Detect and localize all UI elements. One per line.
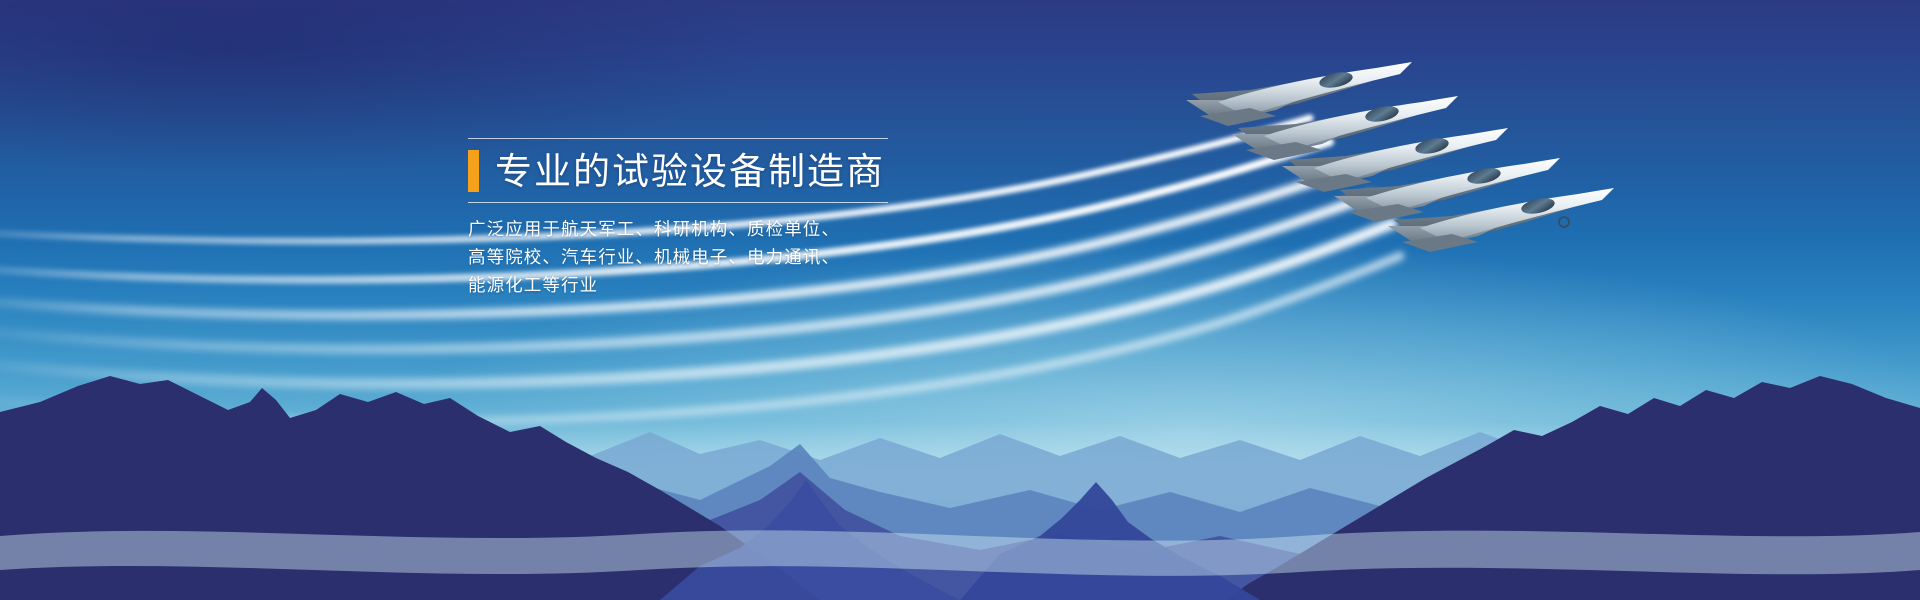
accent-bar-icon xyxy=(468,150,479,192)
page-title: 专业的试验设备制造商 xyxy=(495,153,885,190)
subtitle-line: 广泛应用于航天军工、科研机构、质检单位、 xyxy=(468,216,938,244)
mountain-range-group xyxy=(0,340,1920,600)
mist-layer-lower xyxy=(0,530,1920,575)
jet-formation xyxy=(1100,30,1920,290)
subtitle-line: 能源化工等行业 xyxy=(468,272,938,300)
hero-copy-block: 专业的试验设备制造商 广泛应用于航天军工、科研机构、质检单位、 高等院校、汽车行… xyxy=(468,138,938,300)
subtitle-line: 高等院校、汽车行业、机械电子、电力通讯、 xyxy=(468,244,938,272)
headline-row: 专业的试验设备制造商 xyxy=(468,139,938,202)
subtitle-block: 广泛应用于航天军工、科研机构、质检单位、 高等院校、汽车行业、机械电子、电力通讯… xyxy=(468,203,938,300)
hero-banner: 专业的试验设备制造商 广泛应用于航天军工、科研机构、质检单位、 高等院校、汽车行… xyxy=(0,0,1920,600)
